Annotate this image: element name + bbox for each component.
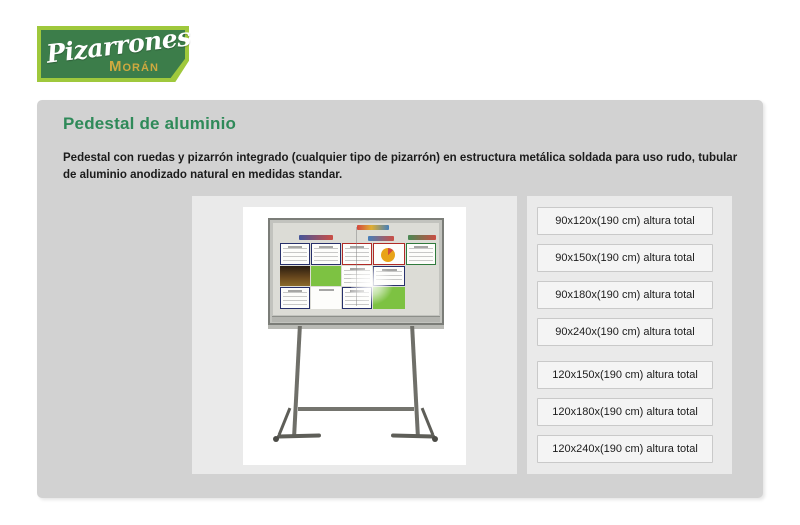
product-image[interactable]: [243, 207, 466, 465]
stand-brace-right: [421, 407, 435, 435]
size-option[interactable]: 120x150x(190 cm) altura total: [537, 361, 713, 389]
stand-leg-left: [292, 326, 302, 436]
whiteboard-surface: [273, 223, 439, 315]
content-panel: Pedestal de aluminio Pedestal con ruedas…: [37, 100, 763, 498]
logo-subtitle: Morán: [109, 58, 159, 75]
header-label-mid: [368, 236, 394, 241]
board-doc: [311, 243, 341, 265]
page-title: Pedestal de aluminio: [63, 114, 236, 134]
header-label-center-top: [357, 225, 389, 230]
stand-leg-right: [410, 326, 420, 436]
stand-foot-right: [391, 433, 435, 438]
board-doc: [280, 287, 310, 309]
board-doc: [373, 266, 405, 286]
brand-logo[interactable]: Pizarrones Morán: [37, 26, 189, 82]
board-doc: [342, 266, 372, 286]
board-doc: [280, 243, 310, 265]
pie-chart: [381, 248, 395, 262]
board-lower-edge: [268, 325, 444, 329]
size-option[interactable]: 90x180x(190 cm) altura total: [537, 281, 713, 309]
stand-crossbar: [298, 407, 414, 411]
size-option[interactable]: 90x120x(190 cm) altura total: [537, 207, 713, 235]
whiteboard-frame: [268, 218, 444, 325]
pedestal-illustration: [243, 207, 466, 465]
caster-wheel-left: [273, 436, 279, 442]
size-option[interactable]: 120x180x(190 cm) altura total: [537, 398, 713, 426]
product-image-panel: [192, 196, 517, 474]
size-option[interactable]: 90x240x(190 cm) altura total: [537, 318, 713, 346]
stand-brace-left: [278, 407, 292, 435]
header-label-right: [408, 235, 436, 240]
header-label-left: [299, 235, 333, 240]
marker-tray: [272, 316, 440, 322]
caster-wheel-right: [432, 436, 438, 442]
board-photo: [311, 266, 341, 286]
product-description: Pedestal con ruedas y pizarrón integrado…: [63, 150, 747, 183]
board-doc: [311, 287, 341, 309]
board-doc: [406, 243, 436, 265]
board-sliding-seam: [356, 227, 357, 306]
size-option[interactable]: 120x240x(190 cm) altura total: [537, 435, 713, 463]
stand-foot-left: [277, 433, 321, 438]
size-options-panel: 90x120x(190 cm) altura total 90x150x(190…: [527, 196, 732, 474]
board-doc-pie: [373, 243, 405, 265]
board-photo: [373, 287, 405, 309]
board-doc: [342, 243, 372, 265]
board-doc: [342, 287, 372, 309]
size-option[interactable]: 90x150x(190 cm) altura total: [537, 244, 713, 272]
board-photo: [280, 266, 310, 286]
